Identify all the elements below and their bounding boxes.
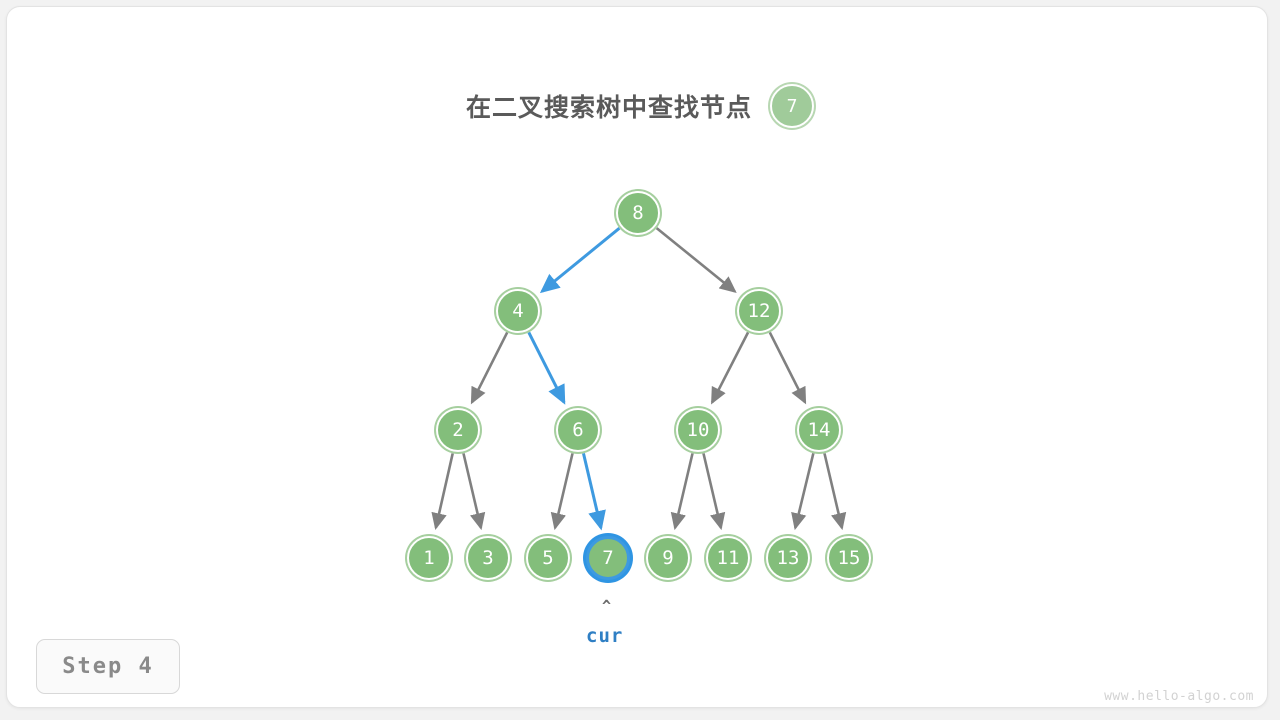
tree-edge-2-to-1 bbox=[436, 453, 453, 527]
tree-node-15: 15 bbox=[827, 536, 871, 580]
tree-node-12: 12 bbox=[737, 289, 781, 333]
cur-pointer-label: cur bbox=[586, 625, 623, 647]
tree-node-3: 3 bbox=[466, 536, 510, 580]
tree-edge-14-to-15 bbox=[824, 453, 841, 527]
tree-node-10: 10 bbox=[676, 408, 720, 452]
tree-edge-8-to-12 bbox=[657, 228, 735, 291]
tree-node-13: 13 bbox=[766, 536, 810, 580]
tree-node-5: 5 bbox=[526, 536, 570, 580]
tree-edge-6-to-7 bbox=[583, 453, 600, 527]
tree-edge-4-to-6 bbox=[529, 332, 564, 402]
step-badge: Step 4 bbox=[36, 639, 180, 694]
tree-edge-8-to-4 bbox=[542, 228, 619, 291]
tree-edge-10-to-11 bbox=[703, 453, 720, 527]
tree-node-4: 4 bbox=[496, 289, 540, 333]
tree-edge-6-to-5 bbox=[555, 453, 572, 527]
tree-node-8: 8 bbox=[616, 191, 660, 235]
tree-edge-12-to-10 bbox=[712, 332, 748, 402]
tree-node-7: 7 bbox=[586, 536, 630, 580]
tree-edges-layer bbox=[0, 0, 1280, 720]
cur-pointer-caret: ^ bbox=[602, 597, 611, 615]
tree-edge-4-to-2 bbox=[472, 332, 507, 402]
tree-node-2: 2 bbox=[436, 408, 480, 452]
tree-edge-2-to-3 bbox=[463, 453, 480, 527]
tree-edge-12-to-14 bbox=[770, 332, 805, 402]
diagram-canvas: 在二叉搜索树中查找节点 7 841226101413579111315 ^ cu… bbox=[0, 0, 1280, 720]
tree-node-14: 14 bbox=[797, 408, 841, 452]
tree-edge-10-to-9 bbox=[675, 453, 692, 527]
tree-node-9: 9 bbox=[646, 536, 690, 580]
tree-node-11: 11 bbox=[706, 536, 750, 580]
watermark: www.hello-algo.com bbox=[1104, 689, 1254, 704]
tree-edge-14-to-13 bbox=[795, 453, 813, 528]
tree-node-6: 6 bbox=[556, 408, 600, 452]
tree-node-1: 1 bbox=[407, 536, 451, 580]
